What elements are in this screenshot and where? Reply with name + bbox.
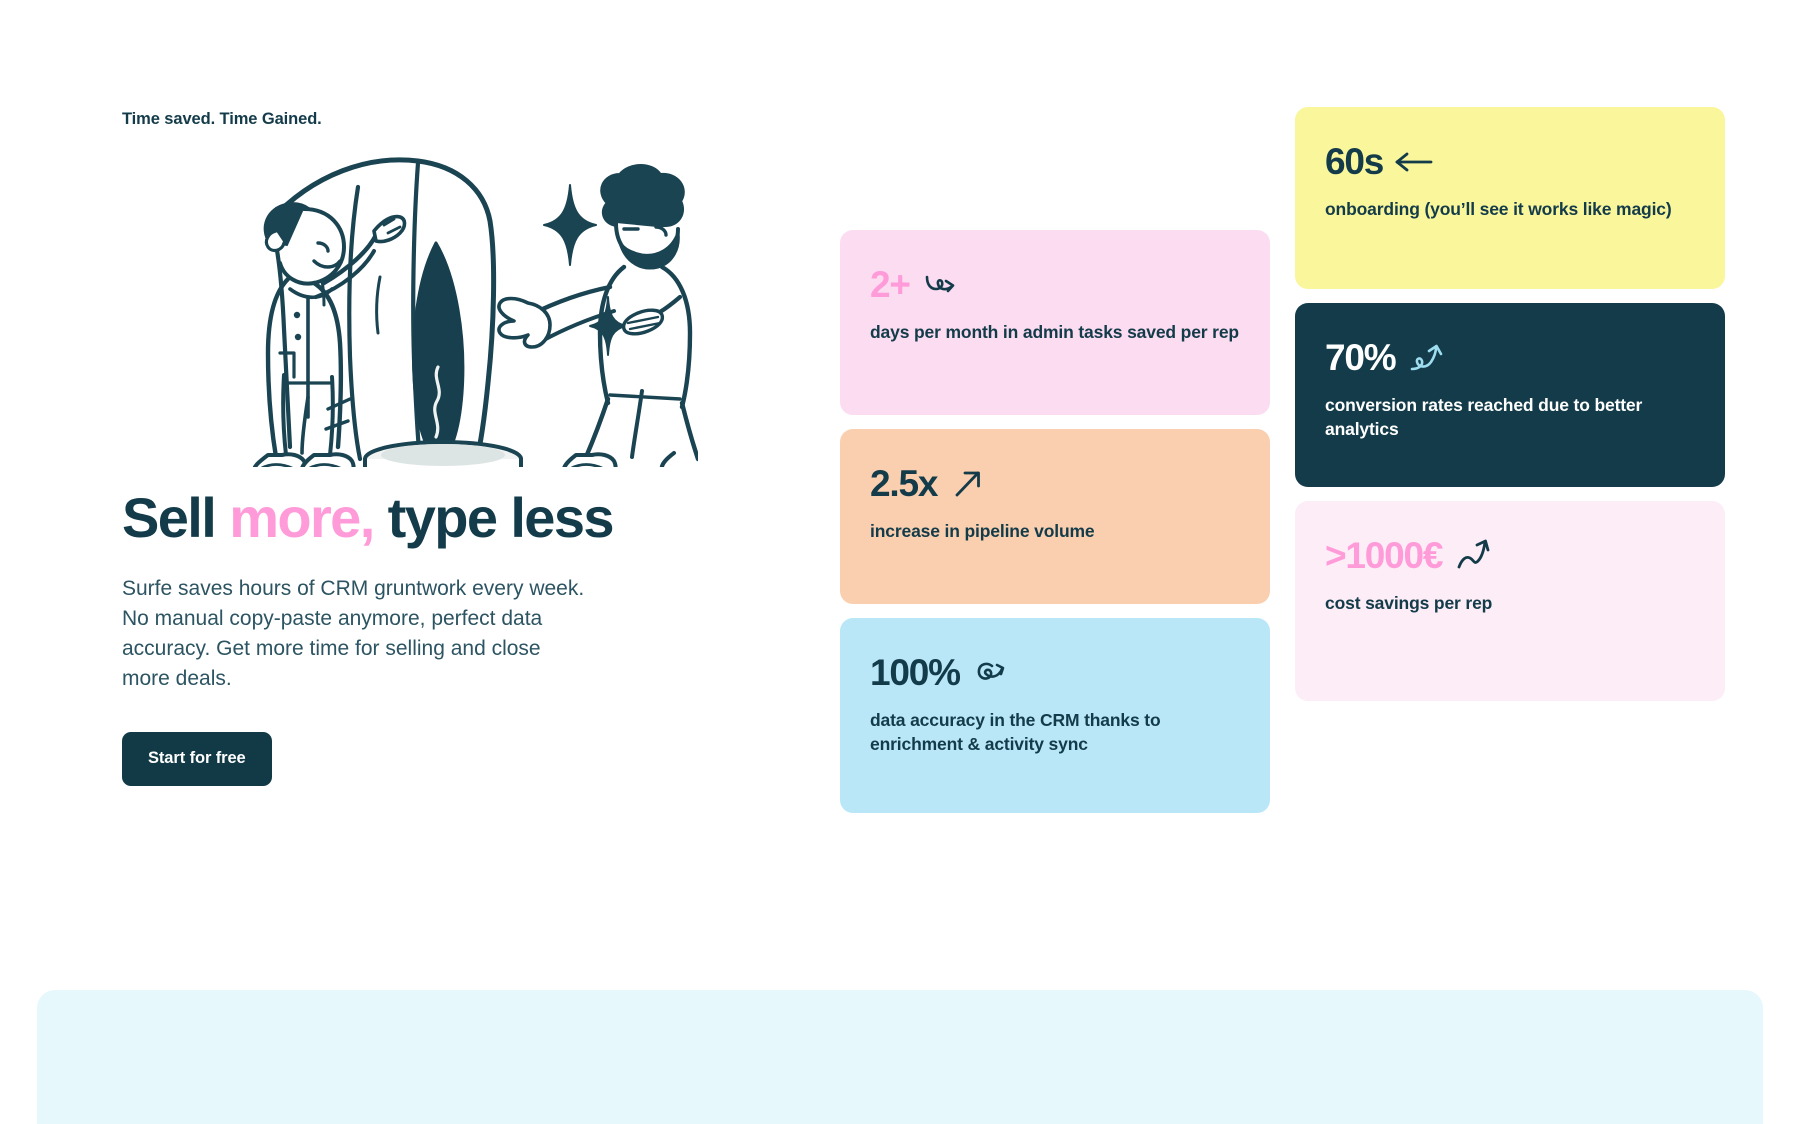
stat-description: conversion rates reached due to better a… <box>1325 394 1695 442</box>
stat-description: cost savings per rep <box>1325 592 1695 616</box>
hero-eyebrow: Time saved. Time Gained. <box>122 110 682 129</box>
stat-description: days per month in admin tasks saved per … <box>870 321 1240 345</box>
curved-arrow-up-right-icon <box>1409 341 1443 375</box>
start-for-free-button[interactable]: Start for free <box>122 732 272 786</box>
stat-value: 100% <box>870 654 960 691</box>
stat-card-header: 100% <box>870 654 1240 691</box>
stat-value: 2.5x <box>870 465 937 502</box>
hero-left-column: Time saved. Time Gained. <box>122 110 682 786</box>
arrow-left-icon <box>1397 145 1431 179</box>
surfboard-unveiling-illustration <box>118 147 698 467</box>
stat-card-header: 2.5x <box>870 465 1240 502</box>
stat-card-conversion-rate: 70% conversion rates reached due to bett… <box>1295 303 1725 487</box>
headline-part-one: Sell <box>122 486 229 549</box>
stat-description: onboarding (you’ll see it works like mag… <box>1325 198 1695 222</box>
arrow-up-right-icon <box>951 467 985 501</box>
circular-refresh-arrow-icon <box>974 656 1008 690</box>
page-title: Sell more, type less <box>122 489 682 548</box>
hero-description: Surfe saves hours of CRM gruntwork every… <box>122 574 592 694</box>
stat-card-data-accuracy: 100% data accuracy in the CRM thanks to … <box>840 618 1270 813</box>
headline-highlight: more, <box>229 486 374 549</box>
stat-value: 2+ <box>870 266 910 303</box>
stat-card-cost-savings: >1000€ cost savings per rep <box>1295 501 1725 701</box>
stat-card-header: 70% <box>1325 339 1695 376</box>
stat-value: 60s <box>1325 143 1383 180</box>
squiggle-arrow-right-icon <box>924 268 958 302</box>
stat-card-onboarding-time: 60s onboarding (you’ll see it works like… <box>1295 107 1725 289</box>
stat-description: increase in pipeline volume <box>870 520 1240 544</box>
stat-description: data accuracy in the CRM thanks to enric… <box>870 709 1240 757</box>
stat-card-header: >1000€ <box>1325 537 1695 574</box>
stats-middle-column: 2+ days per month in admin tasks saved p… <box>840 230 1270 827</box>
next-section-panel <box>37 990 1763 1124</box>
stat-card-header: 2+ <box>870 266 1240 303</box>
stat-card-pipeline-volume: 2.5x increase in pipeline volume <box>840 429 1270 604</box>
growth-arrow-up-icon <box>1456 539 1490 573</box>
stat-card-days-saved: 2+ days per month in admin tasks saved p… <box>840 230 1270 415</box>
stat-value: 70% <box>1325 339 1395 376</box>
stat-value: >1000€ <box>1325 537 1442 574</box>
stats-right-column: 60s onboarding (you’ll see it works like… <box>1295 107 1725 715</box>
stat-card-header: 60s <box>1325 143 1695 180</box>
headline-part-two: type less <box>374 486 613 549</box>
